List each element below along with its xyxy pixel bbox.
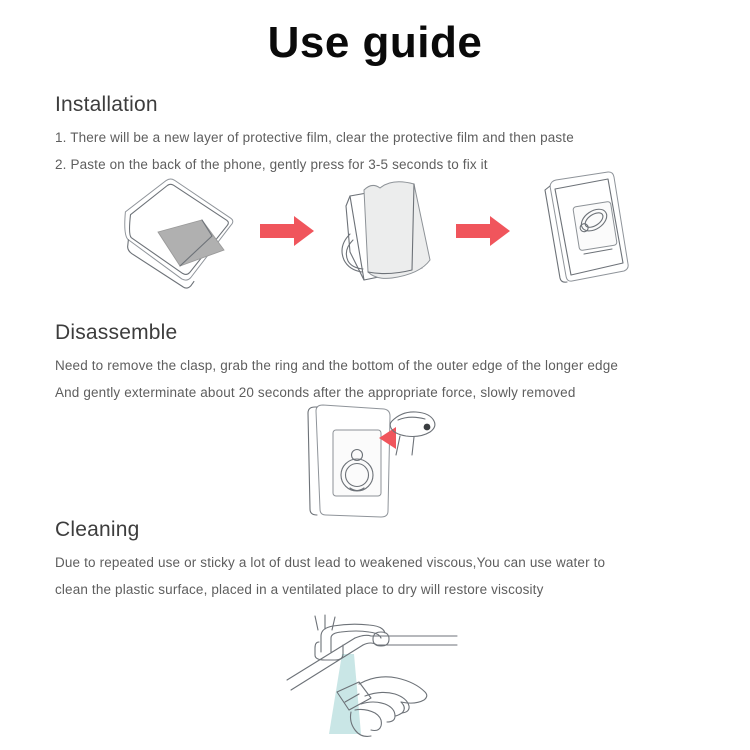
disassemble-figure — [280, 403, 470, 521]
arrow-right-icon-2 — [450, 211, 516, 251]
installation-steps-illustration — [0, 168, 750, 293]
water-stream — [329, 654, 361, 734]
section-disassemble: Disassemble Need to remove the clasp, gr… — [0, 320, 750, 406]
section-installation: Installation 1. There will be a new laye… — [0, 92, 750, 178]
section-cleaning: Cleaning Due to repeated use or sticky a… — [0, 517, 750, 603]
cleaning-illustration — [0, 612, 750, 747]
film-being-peeled-figure — [320, 168, 450, 293]
disassemble-illustration — [0, 403, 750, 521]
cleaning-figure — [285, 612, 465, 747]
arrow-right-icon-1 — [254, 211, 320, 251]
section-line: And gently exterminate about 20 seconds … — [55, 379, 750, 406]
section-heading-disassemble: Disassemble — [55, 320, 750, 346]
section-lines-disassemble: Need to remove the clasp, grab the ring … — [0, 352, 750, 406]
section-line: 1. There will be a new layer of protecti… — [55, 124, 750, 151]
section-line: Need to remove the clasp, grab the ring … — [55, 352, 750, 379]
phone-with-ring-holder-attached-figure — [516, 168, 646, 293]
use-guide-page: Use guide Installation 1. There will be … — [0, 0, 750, 750]
page-title: Use guide — [0, 18, 750, 68]
section-heading-installation: Installation — [55, 92, 750, 118]
phone-with-protective-film-figure — [104, 168, 254, 293]
section-lines-cleaning: Due to repeated use or sticky a lot of d… — [0, 549, 750, 603]
section-line: clean the plastic surface, placed in a v… — [55, 576, 750, 603]
section-heading-cleaning: Cleaning — [55, 517, 750, 543]
section-line: Due to repeated use or sticky a lot of d… — [55, 549, 750, 576]
